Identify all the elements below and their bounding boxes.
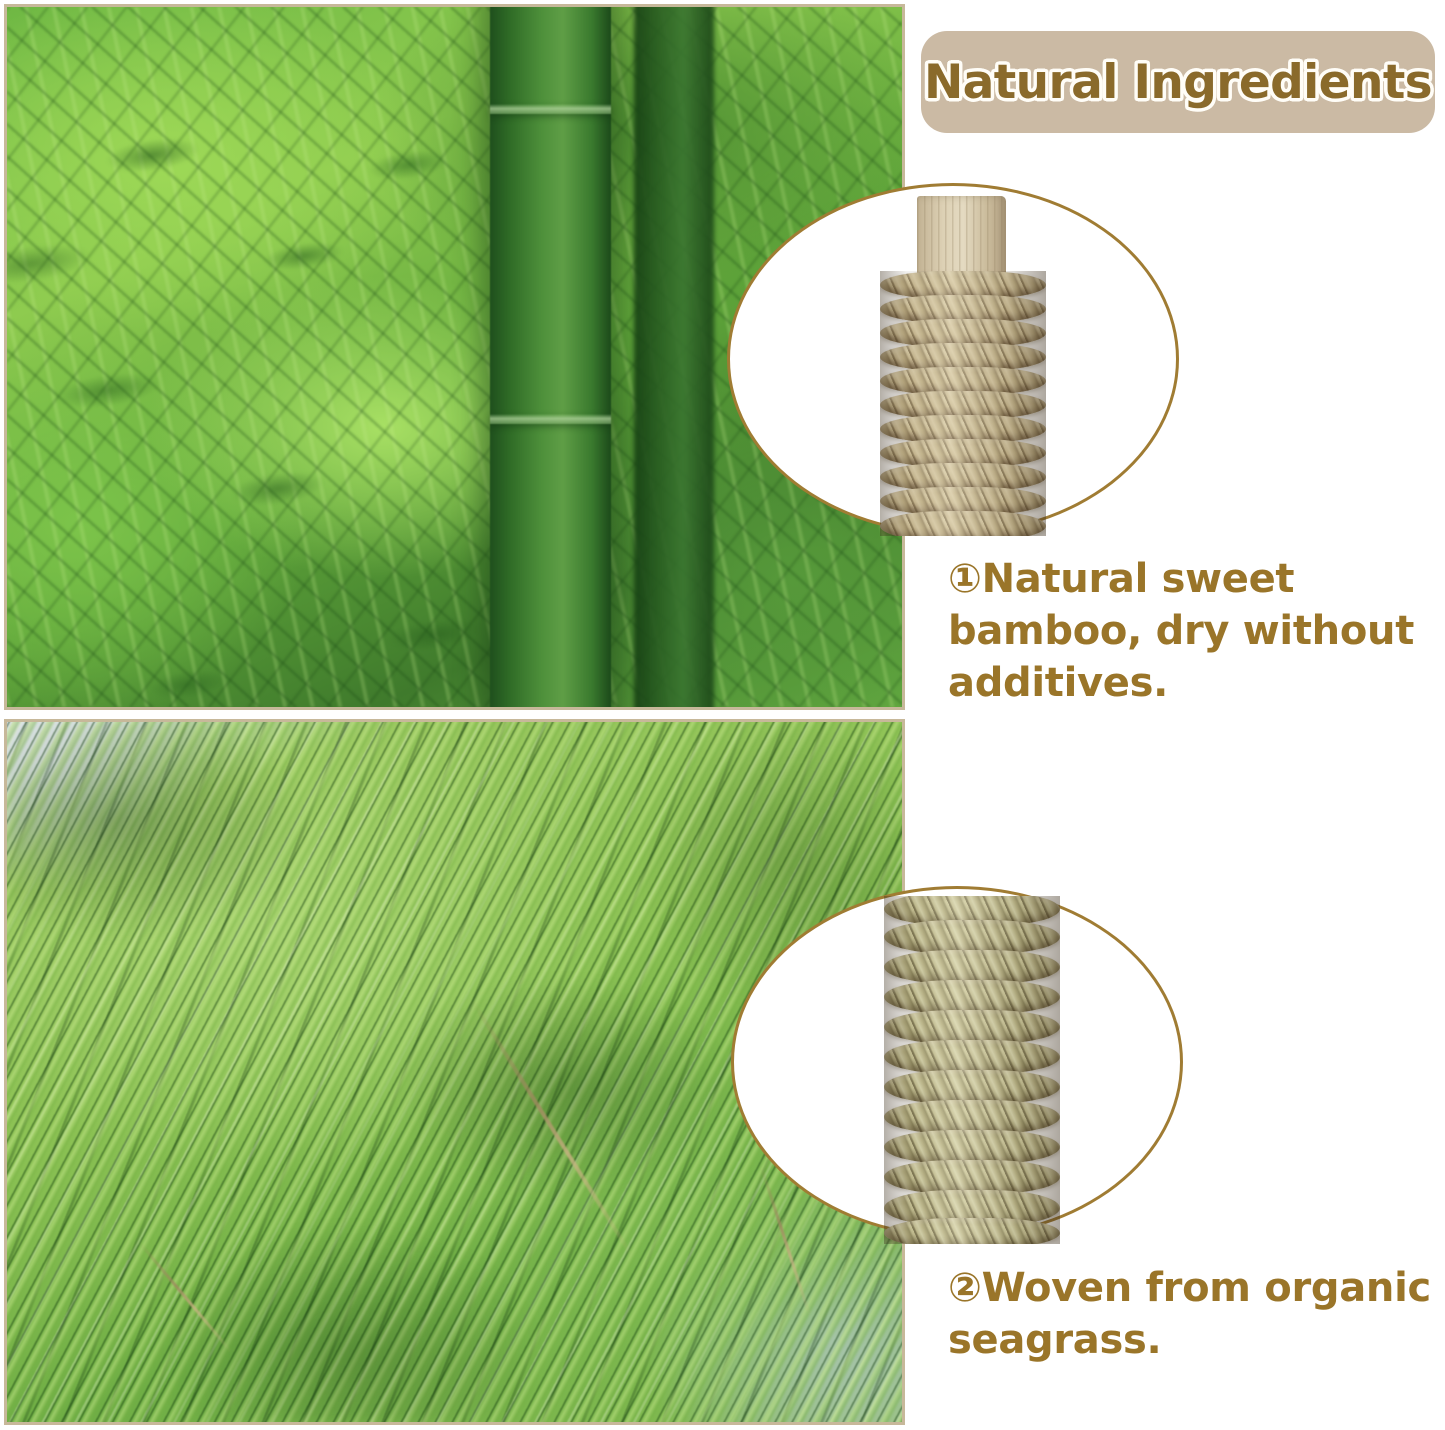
rope-ring xyxy=(884,1070,1060,1104)
rope-ring xyxy=(884,1010,1060,1044)
caption-marker-one: ① xyxy=(948,556,982,602)
caption-text-one: Natural sweet bamboo, dry without additi… xyxy=(948,556,1414,706)
product-bamboo-stick-photo xyxy=(880,196,1046,536)
bamboo-node-lower xyxy=(490,414,611,424)
bamboo-culm-background xyxy=(634,4,715,710)
page-title: Natural Ingredients xyxy=(924,55,1432,110)
caption-marker-two: ② xyxy=(948,1265,982,1311)
rope-ring xyxy=(884,920,1060,954)
panel-divider xyxy=(4,710,905,719)
rope-ring xyxy=(884,1040,1060,1074)
infographic-page: Natural Ingredients ①Natural sweet bambo… xyxy=(0,0,1445,1430)
rope-ring xyxy=(884,1130,1060,1164)
caption-bamboo: ①Natural sweet bamboo, dry without addit… xyxy=(948,553,1438,709)
rope-ring xyxy=(884,1160,1060,1194)
rope-ring xyxy=(884,1218,1060,1244)
rope-ring xyxy=(884,1100,1060,1134)
seagrass-weave-coil xyxy=(884,896,1060,1244)
rope-ring xyxy=(884,980,1060,1014)
seagrass-wrap-coil xyxy=(880,271,1046,536)
bamboo-stick-core xyxy=(917,196,1007,278)
caption-seagrass: ②Woven from organic seagrass. xyxy=(948,1262,1438,1366)
title-banner: Natural Ingredients xyxy=(921,31,1435,133)
product-seagrass-weave-photo xyxy=(884,896,1060,1244)
rope-ring xyxy=(884,950,1060,984)
rope-ring xyxy=(880,511,1046,536)
bamboo-culm-foreground xyxy=(490,4,611,710)
bamboo-node-upper xyxy=(490,104,611,114)
caption-text-two: Woven from organic seagrass. xyxy=(948,1265,1431,1363)
